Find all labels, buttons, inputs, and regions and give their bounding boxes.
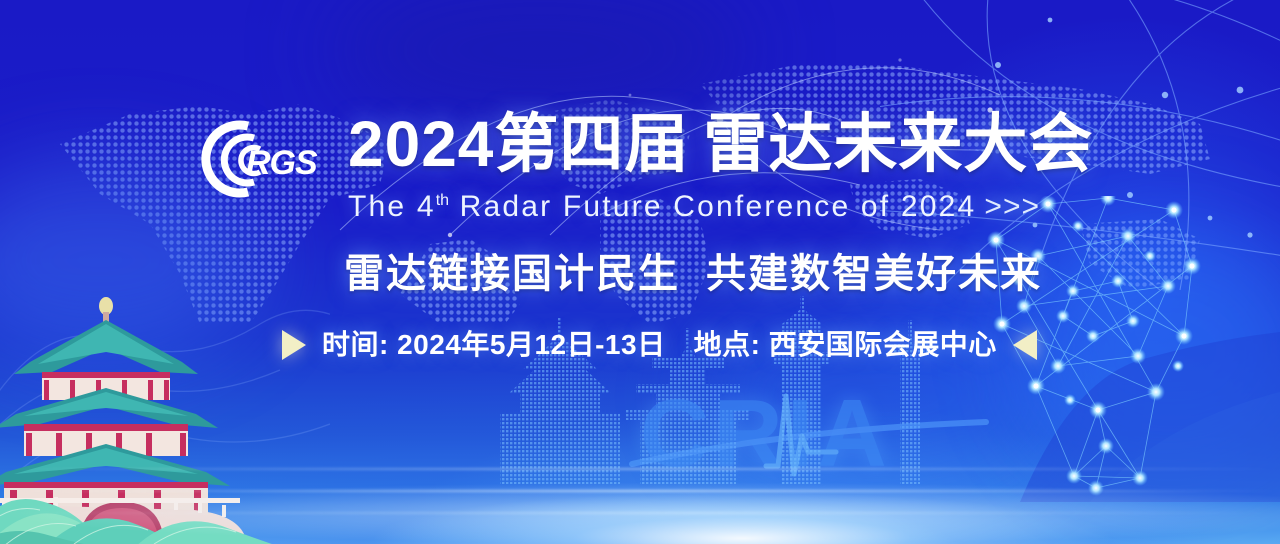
subtitle-main: Radar Future Conference of 2024 [460, 190, 977, 223]
slogan-left: 雷达链接国计民生 [344, 252, 680, 296]
subtitle: The 4th Radar Future Conference of 2024>… [348, 192, 1040, 222]
subtitle-prefix: The 4 [348, 190, 436, 223]
conference-banner: CRIA [0, 0, 1280, 544]
slogan-right: 共建数智美好未来 [706, 252, 1042, 296]
page-title: 2024第四届雷达未来大会 [348, 112, 1093, 176]
subtitle-ordinal: th [436, 192, 449, 209]
title-event: 雷达未来大会 [703, 108, 1093, 180]
play-triangle-right-icon [282, 330, 306, 360]
rgs-logo: RGS [192, 116, 342, 202]
play-triangle-left-icon [1013, 330, 1037, 360]
title-edition: 第四届 [494, 108, 689, 180]
banner-content: RGS 2024第四届雷达未来大会 The 4th Radar Future C… [0, 0, 1280, 544]
title-year-edition: 2024 [348, 108, 494, 180]
event-place: 地点: 西安国际会展中心 [694, 331, 997, 359]
event-meta: 时间: 2024年5月12日-13日 地点: 西安国际会展中心 [282, 330, 1037, 360]
chevrons-icon: >>> [984, 190, 1040, 223]
slogan: 雷达链接国计民生共建数智美好未来 [344, 254, 1042, 294]
event-time: 时间: 2024年5月12日-13日 [322, 331, 666, 359]
svg-text:RGS: RGS [246, 144, 318, 182]
